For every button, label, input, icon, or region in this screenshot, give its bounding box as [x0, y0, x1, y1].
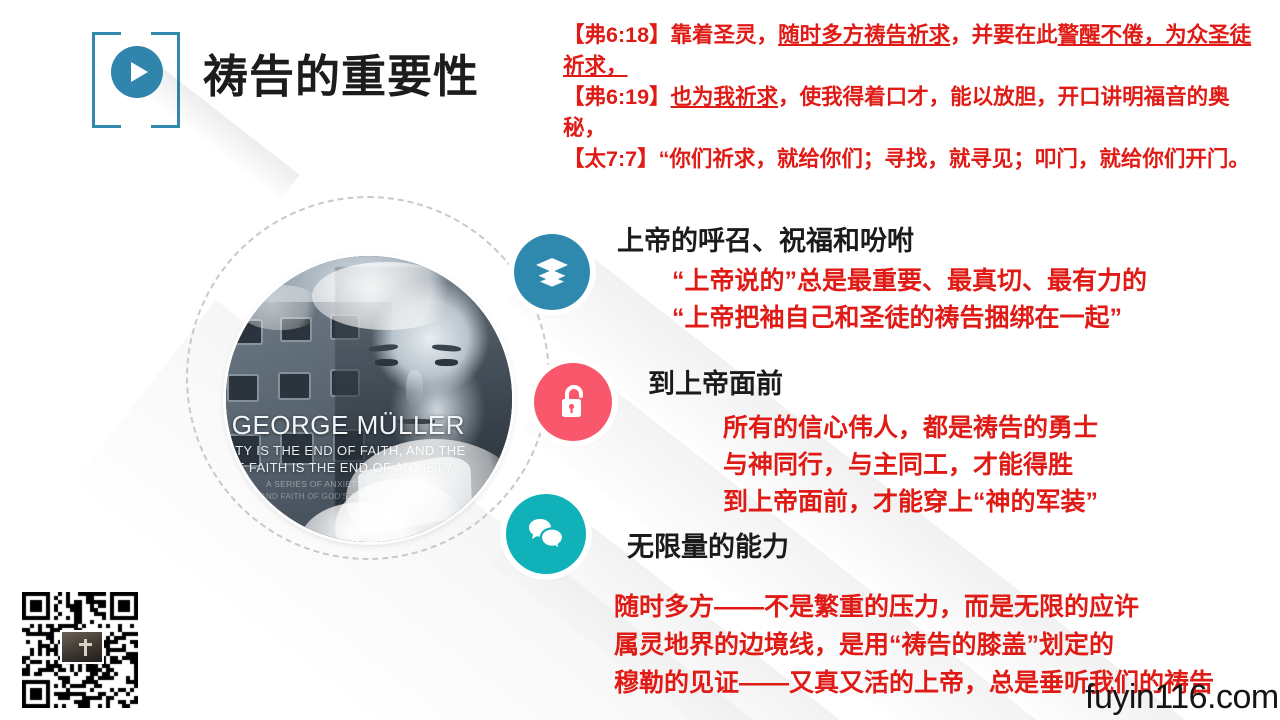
scripture-seg: “你们祈求，就给你们；寻找，就寻见；叩门，就给你们开门。: [659, 147, 1250, 171]
scripture-ref: 【弗6:18】: [563, 23, 671, 47]
watermark: fuyin116.com: [1085, 678, 1279, 717]
photo-cloud: [312, 262, 461, 331]
slide-canvas: 祷告的重要性 【弗6:18】靠着圣灵，随时多方祷告祈求，并要在此警醒不倦，为众圣…: [0, 0, 1280, 720]
section-body-line: 所有的信心伟人，都是祷告的勇士: [723, 410, 1098, 447]
qr-center-logo: [60, 630, 104, 664]
section-body-line: 到上帝面前，才能穿上“神的军装”: [723, 484, 1098, 521]
open-padlock-icon: [557, 383, 589, 421]
scripture-seg-underlined: 也为我祈求: [671, 85, 779, 109]
play-triangle-icon: [131, 62, 148, 82]
scripture-line-eph-6-19: 【弗6:19】也为我祈求，使我得着口才，能以放胆，开口讲明福音的奥秘，: [563, 82, 1263, 144]
photo-name-caption: GEORGE MÜLLER: [232, 410, 507, 441]
section-body-line: “上帝说的”总是最重要、最真切、最有力的: [672, 263, 1147, 300]
photo-eye-left: [375, 359, 398, 366]
frame-edge-left: [92, 58, 95, 102]
section-icon-unlimited-power[interactable]: [506, 494, 586, 574]
cross-icon: [84, 639, 87, 656]
section-body-line: 与神同行，与主同工，才能得胜: [723, 447, 1098, 484]
qr-code[interactable]: [22, 592, 138, 708]
scripture-seg-underlined: 警醒不倦，: [1058, 23, 1166, 47]
page-title: 祷告的重要性: [203, 40, 479, 105]
frame-corner-bottom-right: [151, 99, 180, 128]
scripture-line-eph-6-18: 【弗6:18】靠着圣灵，随时多方祷告祈求，并要在此警醒不倦，为众圣徒祈求，: [563, 20, 1263, 82]
section-heading-calling: 上帝的呼召、祝福和吩咐: [617, 219, 914, 258]
play-button-icon[interactable]: [111, 46, 163, 98]
speech-bubbles-icon: [527, 517, 565, 551]
layers-stack-icon: [535, 257, 569, 287]
section-body-before-god: 所有的信心伟人，都是祷告的勇士 与神同行，与主同工，才能得胜 到上帝面前，才能穿…: [723, 410, 1098, 521]
section-body-calling: “上帝说的”总是最重要、最真切、最有力的 “上帝把袖自己和圣徒的祷告捆绑在一起”: [672, 263, 1147, 337]
photo-window: [229, 376, 257, 400]
photo-nose: [406, 370, 423, 407]
scripture-seg-underlined: 随时多方祷告祈求: [778, 23, 950, 47]
section-heading-unlimited-power: 无限量的能力: [627, 525, 789, 564]
section-icon-calling[interactable]: [514, 234, 590, 310]
section-icon-before-god[interactable]: [534, 363, 612, 441]
photo-eye-right: [435, 359, 458, 366]
frame-edge-right: [177, 58, 180, 102]
scripture-seg: 靠着圣灵，: [671, 23, 779, 47]
scripture-block: 【弗6:18】靠着圣灵，随时多方祷告祈求，并要在此警醒不倦，为众圣徒祈求， 【弗…: [563, 20, 1263, 175]
section-body-line: “上帝把袖自己和圣徒的祷告捆绑在一起”: [672, 300, 1147, 337]
section-body-line: 随时多方——不是繁重的压力，而是无限的应许: [614, 588, 1214, 626]
photo-cloud: [237, 285, 323, 331]
scripture-line-matt-7-7: 【太7:7】“你们祈求，就给你们；寻找，就寻见；叩门，就给你们开门。: [563, 144, 1263, 175]
scripture-ref: 【弗6:19】: [563, 85, 671, 109]
frame-corner-bottom-left: [92, 99, 121, 128]
section-heading-before-god: 到上帝面前: [648, 362, 783, 401]
scripture-seg: ，并要在此: [950, 23, 1058, 47]
photo-window: [280, 374, 308, 398]
portrait-photo: GEORGE MÜLLER ETY IS THE END OF FAITH, A…: [226, 256, 512, 542]
scripture-ref: 【太7:7】: [563, 147, 659, 171]
section-body-line: 属灵地界的边境线，是用“祷告的膝盖”划定的: [614, 626, 1214, 664]
